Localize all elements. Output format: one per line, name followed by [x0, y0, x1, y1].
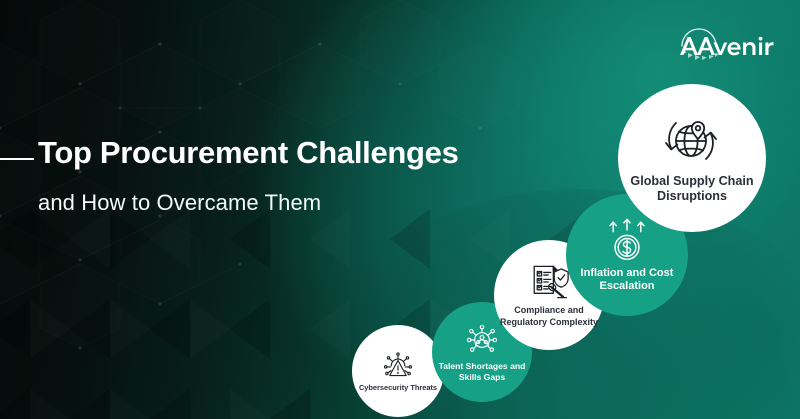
page-subtitle: and How to Overcame Them: [38, 188, 558, 218]
globe-pin-refresh-icon: [660, 112, 724, 168]
page-title: Top Procurement Challenges: [38, 134, 558, 172]
title-accent-dash: [0, 158, 34, 160]
banner: Top Procurement Challenges and How to Ov…: [0, 0, 800, 419]
challenge-label: Global Supply Chain Disruptions: [618, 174, 766, 205]
aavenir-arc-logo: [660, 22, 778, 68]
virus-warning-icon: [381, 350, 415, 380]
challenge-label: Inflation and Cost Escalation: [566, 267, 688, 294]
challenge-label: Compliance and Regulatory Complexity: [494, 305, 604, 328]
challenge-bubble-global-supply-chain-disruptions[interactable]: Global Supply Chain Disruptions: [618, 84, 766, 232]
challenge-label: Cybersecurity Threats: [359, 383, 437, 392]
dollar-coin-up-arrows-icon: [601, 217, 653, 263]
aavenir-logo[interactable]: [660, 22, 778, 68]
challenge-bubble-cybersecurity-threats[interactable]: Cybersecurity Threats: [352, 325, 444, 417]
challenge-label: Talent Shortages and Skills Gaps: [432, 361, 532, 382]
